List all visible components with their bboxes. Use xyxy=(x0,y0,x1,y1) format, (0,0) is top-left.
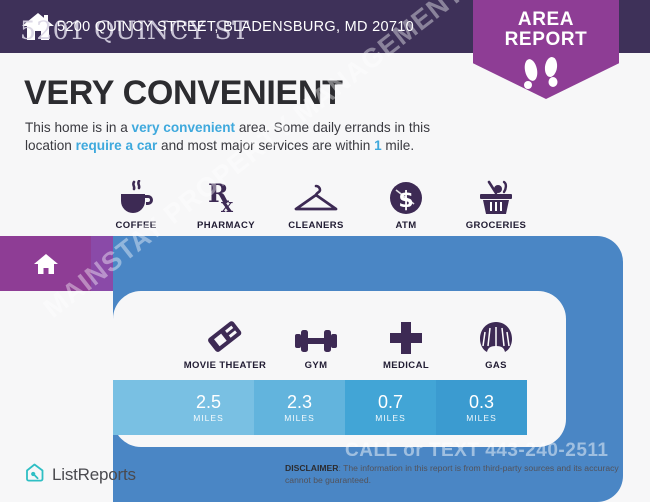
category-label: ATM xyxy=(361,220,451,231)
subtitle-seg-1: very convenient xyxy=(132,120,236,135)
row2-value-cell: 2.5MILES xyxy=(163,380,254,435)
category-gym: GYM xyxy=(271,316,361,371)
footprints-icon xyxy=(515,56,575,92)
page-title: VERY CONVENIENT xyxy=(24,74,343,113)
row2-icon-strip: MOVIE THEATER GYM xyxy=(0,316,650,378)
area-report-page: 5201 QUINCY ST 5200 QUINCY STREET, BLADE… xyxy=(0,0,650,502)
category-pharmacy: R x PHARMACY xyxy=(181,176,271,231)
disclaimer-label: DISCLAIMER xyxy=(285,463,338,473)
distance-unit: MILES xyxy=(375,413,406,423)
listreports-wordmark: ListReports xyxy=(52,465,136,485)
svg-text:$: $ xyxy=(398,188,413,213)
dumbbell-icon xyxy=(271,316,361,356)
distance-value: 0.3 xyxy=(469,393,494,411)
category-groceries: GROCERIES xyxy=(451,176,541,231)
listreports-house-tag-icon xyxy=(24,462,45,488)
category-label: GAS xyxy=(451,360,541,371)
subtitle-seg-4: and most major services are within xyxy=(157,138,374,153)
category-label: GROCERIES xyxy=(451,220,541,231)
coffee-cup-icon xyxy=(91,176,181,216)
distance-value: 0.7 xyxy=(378,393,403,411)
badge-label: AREA REPORT xyxy=(473,10,619,50)
listreports-logo[interactable]: ListReports xyxy=(24,462,136,488)
svg-text:x: x xyxy=(221,193,234,216)
category-label: PHARMACY xyxy=(181,220,271,231)
category-cleaners: CLEANERS xyxy=(271,176,361,231)
row1-home-cell xyxy=(0,236,91,291)
movie-ticket-icon xyxy=(180,316,270,356)
row2-value-cell: 2.3MILES xyxy=(254,380,345,435)
address-full: 5200 QUINCY STREET, BLADENSBURG, MD 2071… xyxy=(57,19,414,35)
category-label: CLEANERS xyxy=(271,220,361,231)
home-icon xyxy=(33,252,59,276)
category-coffee: COFFEE xyxy=(91,176,181,231)
distance-unit: MILES xyxy=(193,413,224,423)
row2-value-cell: 0.7MILES xyxy=(345,380,436,435)
row2-value-cell: 0.3MILES xyxy=(436,380,527,435)
subtitle-seg-0: This home is in a xyxy=(25,120,132,135)
subtitle-seg-3: require a car xyxy=(76,138,158,153)
category-atm: $ ATM xyxy=(361,176,451,231)
distance-value: 2.5 xyxy=(196,393,221,411)
clothes-hanger-icon xyxy=(271,176,361,216)
distance-unit: MILES xyxy=(284,413,315,423)
row2-distance-bar: 2.5MILES2.3MILES0.7MILES0.3MILES xyxy=(113,380,623,435)
category-label: MOVIE THEATER xyxy=(180,360,270,371)
category-movie-theater: MOVIE THEATER xyxy=(180,316,270,371)
subtitle-seg-5: 1 xyxy=(374,138,382,153)
badge-line-1: AREA xyxy=(473,10,619,30)
grocery-basket-icon xyxy=(451,176,541,216)
category-gas: GAS xyxy=(451,316,541,371)
prescription-rx-icon: R x xyxy=(181,176,271,216)
page-subtitle: This home is in a very convenient area. … xyxy=(25,119,470,155)
gas-shell-icon xyxy=(451,316,541,356)
badge-line-2: REPORT xyxy=(473,30,619,50)
category-medical: MEDICAL xyxy=(361,316,451,371)
distance-unit: MILES xyxy=(466,413,497,423)
category-label: COFFEE xyxy=(91,220,181,231)
category-label: MEDICAL xyxy=(361,360,451,371)
category-label: GYM xyxy=(271,360,361,371)
dollar-circle-icon: $ xyxy=(361,176,451,216)
disclaimer: DISCLAIMER: The information in this repo… xyxy=(285,463,635,486)
distance-value: 2.3 xyxy=(287,393,312,411)
row1-icon-strip: COFFEE R x PHARMACY CLEANERS xyxy=(0,176,650,238)
subtitle-seg-6: mile. xyxy=(382,138,414,153)
medical-cross-icon xyxy=(361,316,451,356)
row2-lead-spacer xyxy=(113,380,163,435)
